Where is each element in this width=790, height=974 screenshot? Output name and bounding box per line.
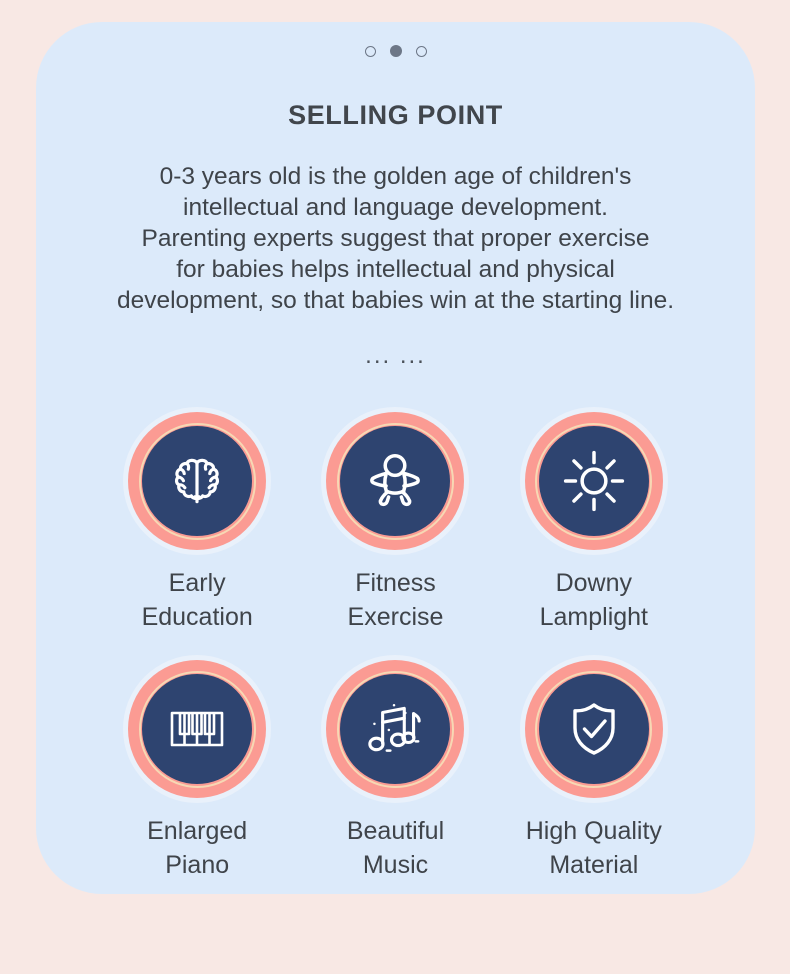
feature-label-line2: Education <box>142 600 253 634</box>
feature-label-line2: Music <box>347 848 444 882</box>
feature-label-enlarged-piano: Enlarged Piano <box>147 814 247 882</box>
icon-badge-fitness-exercise <box>326 412 464 550</box>
feature-item-high-quality-material[interactable]: High Quality Material <box>495 660 693 882</box>
feature-label-fitness-exercise: Fitness Exercise <box>348 566 444 634</box>
pagination-dot-2-active[interactable] <box>390 45 402 57</box>
icon-badge-downy-lamplight <box>525 412 663 550</box>
description-line-2: intellectual and language development. <box>50 192 741 223</box>
page-title: SELLING POINT <box>36 100 755 131</box>
description-line-5: development, so that babies win at the s… <box>50 285 741 316</box>
icon-badge-beautiful-music <box>326 660 464 798</box>
icon-badge-early-education <box>128 412 266 550</box>
description-paragraph: 0-3 years old is the golden age of child… <box>36 161 755 316</box>
icon-badge-enlarged-piano <box>128 660 266 798</box>
feature-label-beautiful-music: Beautiful Music <box>347 814 444 882</box>
feature-label-downy-lamplight: Downy Lamplight <box>540 566 648 634</box>
feature-label-high-quality-material: High Quality Material <box>526 814 662 882</box>
feature-item-fitness-exercise[interactable]: Fitness Exercise <box>296 412 494 634</box>
sun-icon <box>539 426 649 536</box>
icon-badge-high-quality-material <box>525 660 663 798</box>
feature-label-line1: High Quality <box>526 817 662 845</box>
feature-label-line2: Lamplight <box>540 600 648 634</box>
feature-item-beautiful-music[interactable]: Beautiful Music <box>296 660 494 882</box>
pagination-dots[interactable] <box>36 44 755 58</box>
description-line-4: for babies helps intellectual and physic… <box>50 254 741 285</box>
feature-label-line1: Enlarged <box>147 817 247 845</box>
selling-point-card: SELLING POINT 0-3 years old is the golde… <box>36 22 755 894</box>
feature-label-line1: Fitness <box>355 569 436 597</box>
feature-label-line1: Beautiful <box>347 817 444 845</box>
feature-label-line2: Material <box>526 848 662 882</box>
feature-item-enlarged-piano[interactable]: Enlarged Piano <box>98 660 296 882</box>
feature-grid: Early Education <box>36 412 755 882</box>
feature-label-line2: Exercise <box>348 600 444 634</box>
pagination-dot-3[interactable] <box>416 46 427 57</box>
baby-figure-icon <box>340 426 450 536</box>
brain-icon <box>142 426 252 536</box>
pagination-dot-1[interactable] <box>365 46 376 57</box>
ellipsis-text: ... ... <box>36 342 755 370</box>
description-line-1: 0-3 years old is the golden age of child… <box>50 161 741 192</box>
description-line-3: Parenting experts suggest that proper ex… <box>50 223 741 254</box>
music-notes-icon <box>340 674 450 784</box>
feature-item-downy-lamplight[interactable]: Downy Lamplight <box>495 412 693 634</box>
feature-label-line1: Early <box>169 569 226 597</box>
feature-label-line1: Downy <box>556 569 632 597</box>
feature-label-early-education: Early Education <box>142 566 253 634</box>
feature-item-early-education[interactable]: Early Education <box>98 412 296 634</box>
piano-keys-icon <box>142 674 252 784</box>
feature-label-line2: Piano <box>147 848 247 882</box>
shield-check-icon <box>539 674 649 784</box>
